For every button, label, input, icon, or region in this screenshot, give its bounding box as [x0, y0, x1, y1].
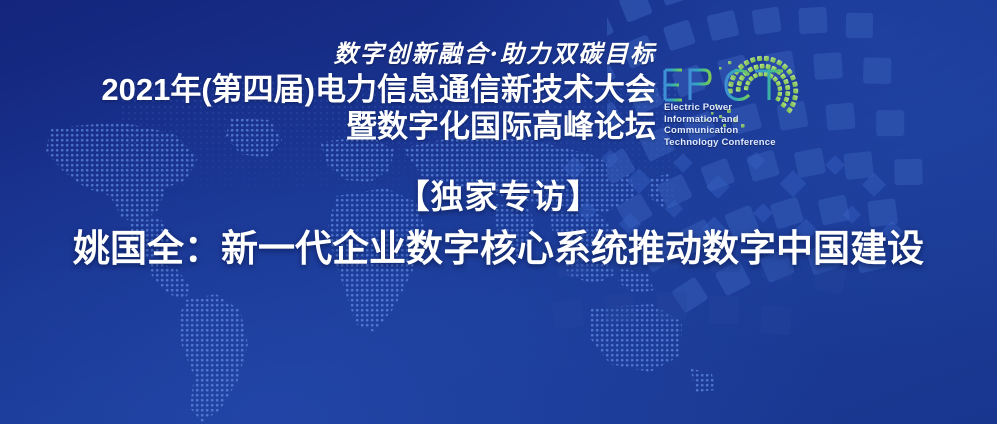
headline-kicker: 【独家专访】: [0, 176, 997, 217]
headline-main-title: 姚国全：新一代企业数字核心系统推动数字中国建设: [0, 225, 997, 273]
epict-logo-subtitle: Electric Power Information and Communica…: [664, 102, 776, 148]
headline-block: 【独家专访】 姚国全：新一代企业数字核心系统推动数字中国建设: [0, 176, 997, 273]
logo-subtitle-line-3: Communication: [664, 125, 776, 137]
epict-logo: Electric Power Information and Communica…: [660, 44, 810, 164]
logo-subtitle-line-1: Electric Power: [664, 102, 776, 114]
conference-tagline: 数字创新融合·助力双碳目标: [0, 42, 656, 66]
conference-title-block: 数字创新融合·助力双碳目标 2021年(第四届)电力信息通信新技术大会 暨数字化…: [0, 42, 668, 145]
logo-subtitle-line-2: Information and: [664, 114, 776, 126]
conference-banner: 数字创新融合·助力双碳目标 2021年(第四届)电力信息通信新技术大会 暨数字化…: [0, 0, 997, 424]
conference-title-line2: 暨数字化国际高峰论坛: [0, 109, 656, 146]
conference-title-line1: 2021年(第四届)电力信息通信新技术大会: [0, 72, 656, 109]
logo-subtitle-line-4: Technology Conference: [664, 137, 776, 149]
